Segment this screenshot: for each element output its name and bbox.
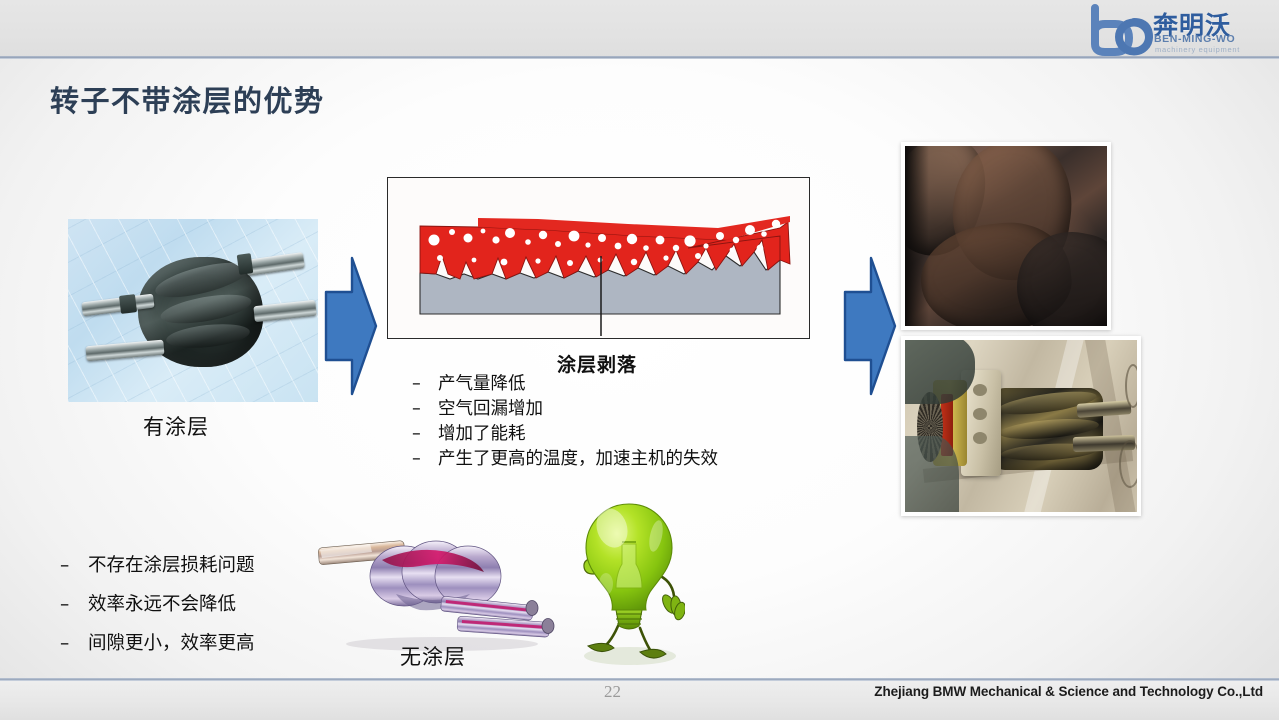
bullet-marker: –: [60, 546, 88, 585]
coating-delamination-diagram: [387, 177, 810, 339]
green-lightbulb-mascot: [570, 498, 685, 673]
rotor-collar: [119, 294, 137, 314]
footer-company-name: Zhejiang BMW Mechanical & Science and Te…: [874, 684, 1263, 699]
list-item: – 不存在涂层损耗问题: [60, 546, 255, 585]
bullet-marker: –: [412, 447, 438, 472]
photo-content: [905, 146, 1107, 326]
string-tie: [1125, 364, 1137, 408]
uncoated-chrome-screw-rotor: [312, 520, 592, 655]
header-divider-rule: [0, 56, 1279, 59]
list-item: – 增加了能耗: [412, 422, 718, 447]
photo-content: [905, 340, 1137, 512]
bullet-text: 不存在涂层损耗问题: [88, 546, 255, 585]
bullet-marker: –: [60, 624, 88, 663]
advantages-list: – 不存在涂层损耗问题 – 效率永远不会降低 – 间隙更小，效率更高: [60, 546, 255, 663]
failed-rotor-assembly-photo: [901, 336, 1141, 516]
slide-title: 转子不带涂层的优势: [50, 78, 325, 120]
bullet-text: 空气回漏增加: [438, 397, 543, 422]
bullet-marker: –: [412, 372, 438, 397]
list-item: – 效率永远不会降低: [60, 585, 255, 624]
coating-problem-bullets: – 产气量降低 – 空气回漏增加 – 增加了能耗 – 产生了更高的温度，加速主机…: [412, 372, 718, 472]
list-item: – 产气量降低: [412, 372, 718, 397]
housing-bolt-hole: [973, 408, 987, 420]
housing-bolt-hole: [973, 432, 987, 444]
bullet-marker: –: [60, 585, 88, 624]
list-item: – 空气回漏增加: [412, 397, 718, 422]
coated-rotor-label: 有涂层: [143, 411, 209, 441]
bullet-marker: –: [412, 422, 438, 447]
bullet-text: 效率永远不会降低: [88, 585, 236, 624]
bullet-text: 产生了更高的温度，加速主机的失效: [438, 447, 718, 472]
page-number: 22: [604, 682, 621, 702]
arrow-right-icon-2: [841, 256, 897, 396]
rotor-collar: [237, 253, 254, 275]
bullet-text: 增加了能耗: [438, 422, 526, 447]
coated-screw-rotor-photo: [68, 219, 318, 402]
list-item: – 间隙更小，效率更高: [60, 624, 255, 663]
list-item: – 产生了更高的温度，加速主机的失效: [412, 447, 718, 472]
arrow-right-icon-1: [322, 256, 378, 396]
header-band: [0, 0, 1279, 58]
bullet-marker: –: [412, 397, 438, 422]
housing-bolt-hole: [973, 384, 987, 396]
rotor-shaft: [1077, 400, 1132, 418]
string-tie: [1119, 440, 1137, 488]
photo-shadow-edge: [905, 146, 929, 326]
worn-rotor-closeup-photo: [901, 142, 1111, 330]
logo-tagline: machinery equipment: [1155, 45, 1240, 54]
slide-canvas: 奔明沃 BEN-MING-WO machinery equipment 转子不带…: [0, 0, 1279, 720]
uncoated-rotor-label: 无涂层: [400, 641, 466, 671]
bullet-text: 间隙更小，效率更高: [88, 624, 255, 663]
dark-cloth: [905, 436, 959, 512]
logo-english-name: BEN-MING-WO: [1154, 33, 1235, 45]
company-logo: 奔明沃 BEN-MING-WO machinery equipment: [1089, 4, 1265, 56]
bullet-text: 产气量降低: [438, 372, 526, 397]
